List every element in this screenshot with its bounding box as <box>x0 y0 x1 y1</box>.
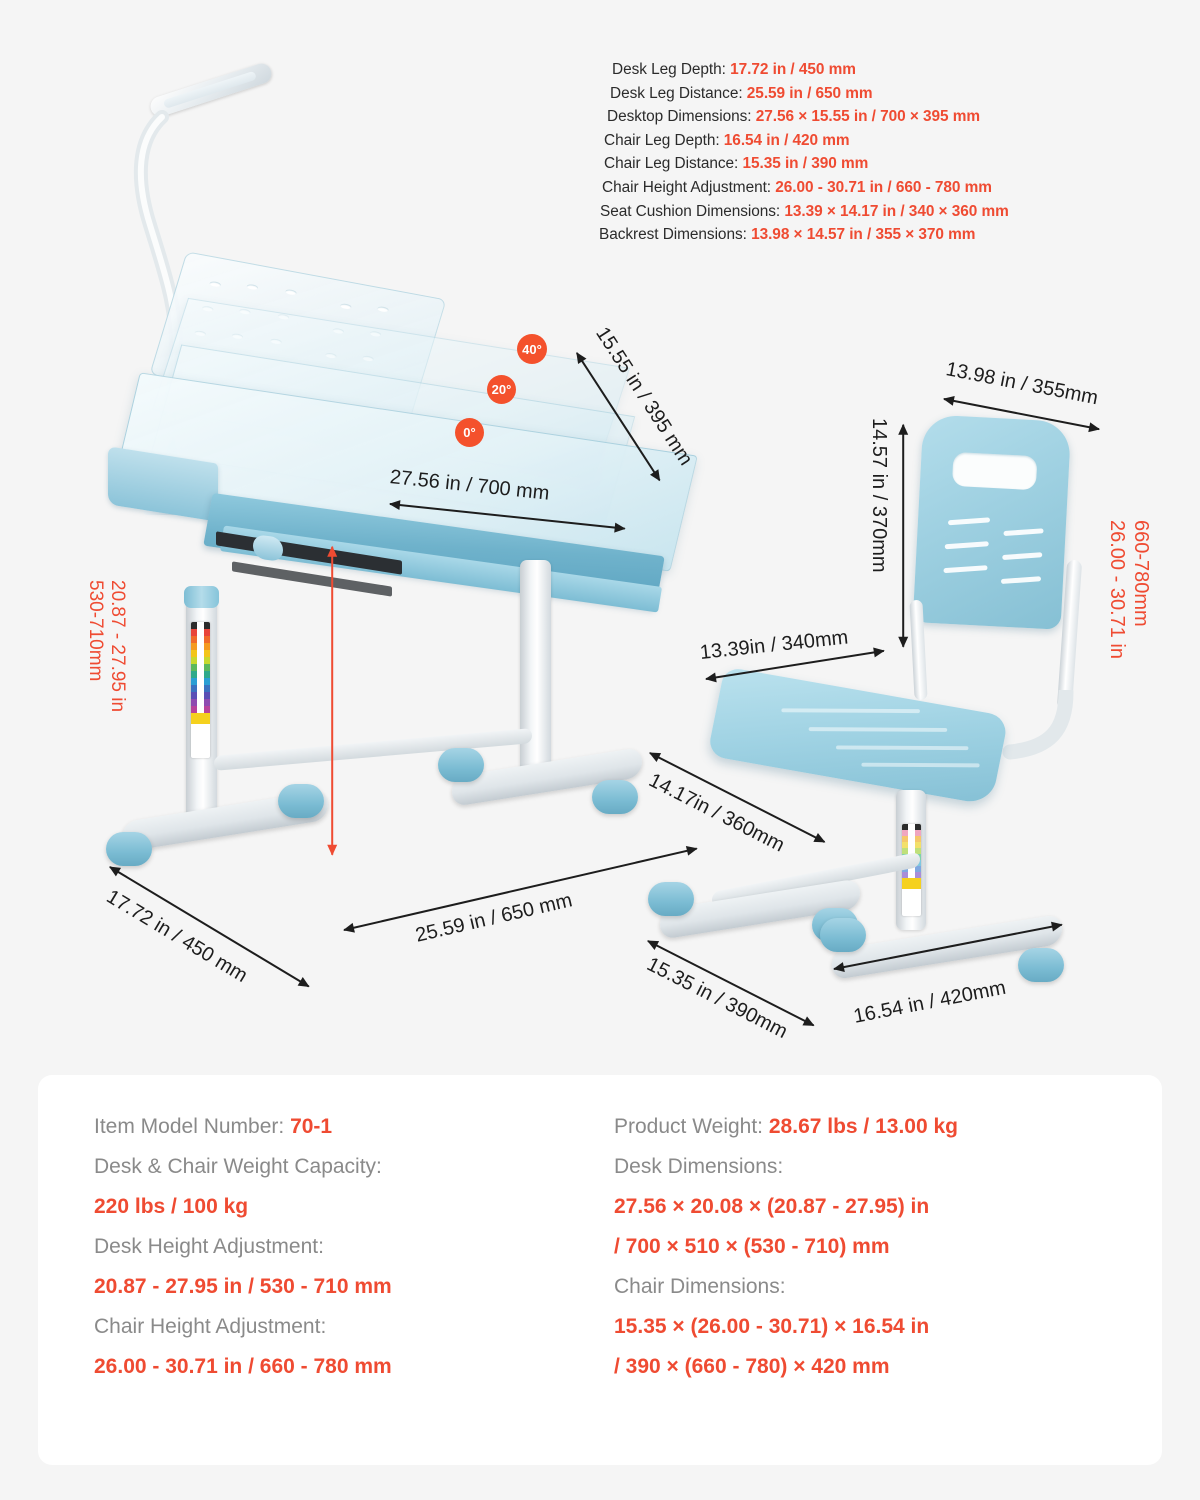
spec-product-weight: Product Weight: 28.67 lbs / 13.00 kg <box>614 1107 1162 1147</box>
desk-crossbar <box>214 728 532 771</box>
spec-value: 27.56 × 15.55 in / 700 × 395 mm <box>756 108 980 125</box>
spec-product-weight-label: Product Weight: <box>614 1115 763 1138</box>
backrest-handle-hole <box>952 452 1038 490</box>
spec-label: Desktop Dimensions: <box>607 108 751 125</box>
chair-leg-depth-label: 16.54 in / 420mm <box>852 977 1008 1029</box>
spec-weight-capacity-label: Desk & Chair Weight Capacity: <box>94 1147 614 1187</box>
spec-chair-dimensions-value-mm: / 390 × (660 - 780) × 420 mm <box>614 1347 1162 1387</box>
spec-weight-capacity-value: 220 lbs / 100 kg <box>94 1187 614 1227</box>
specs-column-right: Product Weight: 28.67 lbs / 13.00 kg Des… <box>614 1075 1162 1465</box>
spec-value: 15.35 in / 390 mm <box>742 155 868 172</box>
spec-label: Backrest Dimensions: <box>599 226 747 243</box>
spec-list: Desk Leg Depth: 17.72 in / 450 mm Desk L… <box>596 58 1156 247</box>
spec-desk-height-value: 20.87 - 27.95 in / 530 - 710 mm <box>94 1267 614 1307</box>
spec-desk-height-label: Desk Height Adjustment: <box>94 1227 614 1267</box>
chair-height-label-inches: 26.00 - 30.71 in <box>1105 520 1128 659</box>
desk-leg-distance-label: 25.59 in / 650 mm <box>413 889 574 947</box>
spec-value: 16.54 in / 420 mm <box>724 132 850 149</box>
desk-height-arrow <box>331 547 333 855</box>
spec-label: Desk Leg Distance: <box>610 85 743 102</box>
spec-value: 25.59 in / 650 mm <box>747 85 873 102</box>
backrest-height-arrow <box>902 425 904 647</box>
chair-front-foot-cap-left <box>820 918 866 952</box>
desk-left-foot-cap-front <box>106 832 152 866</box>
chair-backrest <box>913 414 1072 629</box>
desk-height-sticker <box>191 622 210 758</box>
desk-right-post <box>520 560 551 780</box>
spec-chair-dimensions-label: Chair Dimensions: <box>614 1267 1162 1307</box>
angle-badge-0: 0° <box>455 418 484 447</box>
spec-line: Chair Leg Distance: 15.35 in / 390 mm <box>596 152 1156 176</box>
spec-line: Backrest Dimensions: 13.98 × 14.57 in / … <box>596 223 1156 247</box>
spec-line: Seat Cushion Dimensions: 13.39 × 14.17 i… <box>596 200 1156 224</box>
specs-column-left: Item Model Number: 70-1 Desk & Chair Wei… <box>38 1075 614 1465</box>
spec-item-model-number-label: Item Model Number: <box>94 1115 284 1138</box>
chair-warning-label <box>902 878 921 889</box>
spec-product-weight-value: 28.67 lbs / 13.00 kg <box>769 1115 958 1138</box>
chair-front-foot-cap-right <box>1018 948 1064 982</box>
spec-line: Chair Height Adjustment: 26.00 - 30.71 i… <box>596 176 1156 200</box>
chair-back-foot-cap-left <box>648 882 694 916</box>
spec-line: Desk Leg Depth: 17.72 in / 450 mm <box>596 58 1156 82</box>
spec-label: Chair Leg Depth: <box>604 132 720 149</box>
spec-label: Chair Leg Distance: <box>604 155 738 172</box>
spec-item-model-number: Item Model Number: 70-1 <box>94 1107 614 1147</box>
desk-left-foot-cap-back <box>278 784 324 818</box>
spec-value: 17.72 in / 450 mm <box>730 61 856 78</box>
spec-value: 26.00 - 30.71 in / 660 - 780 mm <box>775 179 992 196</box>
spec-line: Desktop Dimensions: 27.56 × 15.55 in / 7… <box>596 105 1156 129</box>
spec-chair-dimensions-value-in: 15.35 × (26.00 - 30.71) × 16.54 in <box>614 1307 1162 1347</box>
desk-right-foot-cap-front <box>592 780 638 814</box>
desk-height-label-mm: 530-710mm <box>84 580 106 681</box>
desk-right-foot-cap-back <box>438 748 484 782</box>
angle-badge-20: 20° <box>487 375 516 404</box>
desk-height-label-inches: 20.87 - 27.95 in <box>106 580 128 712</box>
chair-spine-curve <box>1000 690 1090 760</box>
spec-value: 13.39 × 14.17 in / 340 × 360 mm <box>784 203 1008 220</box>
product-spec-infographic: Desk Leg Depth: 17.72 in / 450 mm Desk L… <box>0 0 1200 1500</box>
chair-height-label-mm: 660-780mm <box>1129 520 1152 627</box>
spec-chair-height-value: 26.00 - 30.71 in / 660 - 780 mm <box>94 1347 614 1387</box>
chair-seat <box>707 667 1009 806</box>
spec-desk-dimensions-value-mm: / 700 × 510 × (530 - 710) mm <box>614 1227 1162 1267</box>
chair-leg-distance-label: 15.35 in / 390mm <box>643 953 791 1044</box>
specifications-card: Item Model Number: 70-1 Desk & Chair Wei… <box>38 1075 1162 1465</box>
chair-height-sticker <box>902 824 921 916</box>
spec-desk-dimensions-label: Desk Dimensions: <box>614 1147 1162 1187</box>
spec-line: Chair Leg Depth: 16.54 in / 420 mm <box>596 129 1156 153</box>
desk-warning-label <box>191 713 210 724</box>
spec-chair-height-label: Chair Height Adjustment: <box>94 1307 614 1347</box>
spec-value: 13.98 × 14.57 in / 355 × 370 mm <box>751 226 975 243</box>
spec-desk-dimensions-value-in: 27.56 × 20.08 × (20.87 - 27.95) in <box>614 1187 1162 1227</box>
backrest-height-label: 14.57 in / 370mm <box>867 418 890 573</box>
spec-line: Desk Leg Distance: 25.59 in / 650 mm <box>596 82 1156 106</box>
spec-label: Seat Cushion Dimensions: <box>600 203 780 220</box>
spec-label: Chair Height Adjustment: <box>602 179 771 196</box>
spec-item-model-number-value: 70-1 <box>290 1115 332 1138</box>
spec-label: Desk Leg Depth: <box>612 61 726 78</box>
desk-left-post-collar <box>184 586 219 608</box>
angle-badge-40: 40° <box>517 334 547 364</box>
